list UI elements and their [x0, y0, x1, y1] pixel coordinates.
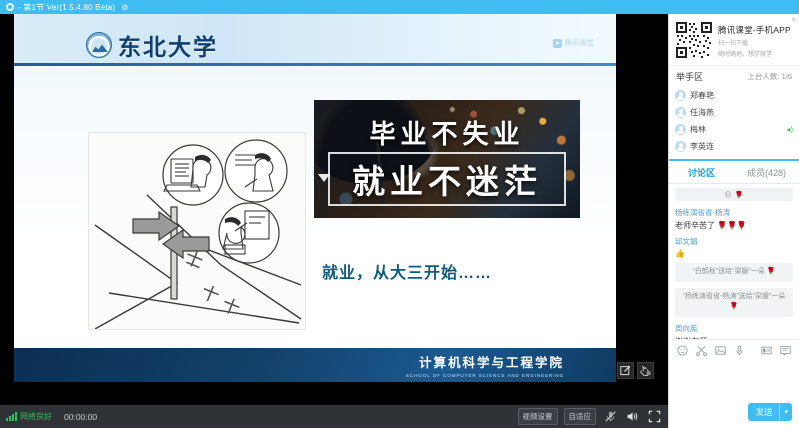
chat-messages[interactable]: ☹ 🌹 杨练演省省-杨涛 老师辛苦了 🌹🌹🌹 邱文娟 👍 [669, 184, 799, 339]
school-name-cn: 计算机科学与工程学院 [419, 352, 564, 371]
list-item[interactable]: 郑春艳 [675, 87, 793, 104]
window-title: - 第1节 Ver(1.5.4.80 Beta) [18, 2, 115, 13]
slide-stage[interactable]: 东北大学 腾讯课堂 [0, 14, 668, 405]
banner-line-2: 就业不迷茫 [352, 155, 542, 203]
participant-name: 郑春艳 [690, 90, 714, 101]
participant-name: 任海燕 [690, 107, 714, 118]
close-icon[interactable]: × [791, 16, 796, 24]
message-author: 邱文娟 [675, 236, 793, 247]
list-item[interactable]: 任海燕 [675, 104, 793, 121]
gift-notice: “杨练演省省-杨涛”送给“梁媛”一朵 🌹 [675, 288, 793, 317]
illustration-svg [89, 133, 306, 330]
list-item[interactable]: 李英连 [675, 138, 793, 155]
rose-icon: 🌹 [767, 268, 776, 275]
university-name: 东北大学 [118, 28, 218, 62]
hand-raise-header: 举手区 上台人数: 1/6 [669, 65, 799, 87]
career-crossroads-illustration [88, 132, 306, 330]
mobile-app-promo: 腾讯课堂-手机APP 扫一扫下载 随时随地，想学就学 × [669, 14, 799, 65]
microphone-muted-icon[interactable] [602, 409, 618, 425]
app-logo-icon [6, 3, 14, 11]
title-bar: - 第1节 Ver(1.5.4.80 Beta) ⚙ [0, 0, 799, 14]
school-name-en: SCHOOL OF COMPUTER SCIENCE AND ENGINEERI… [406, 373, 564, 378]
participant-list: 郑春艳 任海燕 梅林 ◂) 李英连 [669, 87, 799, 159]
avatar [675, 124, 686, 135]
emoji-icon[interactable] [677, 345, 688, 356]
chevron-down-icon[interactable]: ▾ [779, 403, 792, 421]
send-button[interactable]: 发送 ▾ [748, 403, 792, 421]
avatar [675, 141, 686, 152]
message-body: 老师辛苦了 🌹🌹🌹 [675, 220, 793, 231]
card-icon[interactable] [761, 345, 772, 356]
platform-watermark: 腾讯课堂 [553, 38, 594, 48]
session-timer: 00:00:00 [64, 412, 97, 422]
banner-line-1: 毕业不失业 [314, 114, 580, 151]
watermark-label: 腾讯课堂 [565, 38, 594, 48]
speaker-icon[interactable] [624, 409, 640, 425]
avatar [675, 107, 686, 118]
chat-message: 杨练演省省-杨涛 老师辛苦了 🌹🌹🌹 [675, 207, 793, 231]
send-button-label: 发送 [748, 403, 779, 421]
message-emoji: 🌹🌹🌹 [717, 221, 747, 230]
chat-input-wrapper[interactable] [669, 361, 799, 403]
chat-message: 邱文娟 👍 [675, 236, 793, 258]
message-text: 老师辛苦了 [675, 220, 715, 231]
promo-subtitle-2: 随时随地，想学就学 [718, 49, 791, 58]
gift-text: “杨练演省省-杨涛”送给“梁媛”一朵 [683, 293, 786, 300]
participant-name: 李英连 [690, 141, 714, 152]
slide-subtitle: 就业，从大三开始…… [322, 259, 492, 283]
tencent-classroom-window: - 第1节 Ver(1.5.4.80 Beta) ⚙ 东北大学 腾讯课堂 [0, 0, 799, 428]
chat-toolbar [669, 339, 799, 361]
slide-tool-group [617, 362, 654, 379]
camera-strip [616, 14, 668, 382]
panel-tabs: 讨论区 成员(428) [669, 159, 799, 184]
banner-box: 就业不迷茫 [328, 152, 566, 206]
message-emoji: 👍 [675, 249, 685, 258]
university-seal-icon [86, 32, 112, 58]
on-stage-count: 上台人数: 1/6 [747, 71, 792, 82]
university-logo: 东北大学 [86, 28, 218, 62]
board-icon[interactable] [780, 345, 791, 356]
signal-bars-icon [6, 413, 17, 421]
list-item[interactable]: 梅林 ◂) [675, 121, 793, 138]
scissors-icon[interactable] [696, 345, 707, 356]
promo-subtitle-1: 扫一扫下载 [718, 38, 791, 47]
gift-notice: “白鹤秋”送给“梁媛”一朵 🌹 [675, 263, 793, 282]
slide-banner-image: 毕业不失业 就业不迷茫 [314, 100, 580, 218]
chat-input[interactable] [675, 363, 793, 383]
right-panel: 腾讯课堂-手机APP 扫一扫下载 随时随地，想学就学 × 举手区 上台人数: 1… [668, 14, 799, 428]
network-status: 网络良好 [6, 411, 52, 422]
pointer-tool-icon[interactable] [637, 362, 654, 379]
network-status-label: 网络良好 [20, 411, 52, 422]
promo-title: 腾讯课堂-手机APP [718, 24, 791, 36]
rose-icon: 🌹 [735, 191, 744, 199]
annotate-tool-icon[interactable] [617, 362, 634, 379]
fullscreen-icon[interactable] [646, 409, 662, 425]
avatar [675, 90, 686, 101]
image-icon[interactable] [715, 345, 726, 356]
stage-pane: 东北大学 腾讯课堂 [0, 14, 668, 428]
presentation-slide: 东北大学 腾讯课堂 [14, 14, 616, 382]
message-body: 👍 [675, 249, 793, 258]
participant-name: 梅林 [690, 124, 706, 135]
promo-text: 腾讯课堂-手机APP 扫一扫下载 随时随地，想学就学 [718, 21, 791, 59]
gift-text: “白鹤秋”送给“梁媛”一朵 [693, 268, 765, 275]
speaking-icon: ◂) [786, 125, 793, 134]
chat-message: 周向英 谢谢老师 [675, 323, 793, 340]
video-settings-button[interactable]: 视频设置 [518, 408, 558, 425]
gear-icon[interactable]: ⚙ [121, 3, 128, 12]
tab-members[interactable]: 成员(428) [734, 161, 799, 183]
send-row: 发送 ▾ [669, 403, 799, 428]
message-author: 杨练演省省-杨涛 [675, 207, 793, 218]
hand-raise-title: 举手区 [676, 70, 703, 83]
adaptive-quality-button[interactable]: 自适应 [564, 408, 597, 425]
tab-discussion[interactable]: 讨论区 [669, 161, 734, 183]
message-author: 周向英 [675, 323, 793, 334]
rose-icon: 🌹 [730, 303, 739, 310]
microphone-icon[interactable] [734, 345, 745, 356]
slide-footer: 计算机科学与工程学院 SCHOOL OF COMPUTER SCIENCE AN… [14, 348, 616, 382]
play-icon [553, 39, 562, 48]
mute-icon: ☹ [724, 191, 731, 199]
stage-bottom-bar: 网络良好 00:00:00 视频设置 自适应 [0, 405, 668, 428]
window-body: 东北大学 腾讯课堂 [0, 14, 799, 428]
qr-code-icon [675, 21, 713, 59]
chat-system-bar: ☹ 🌹 [675, 188, 793, 201]
